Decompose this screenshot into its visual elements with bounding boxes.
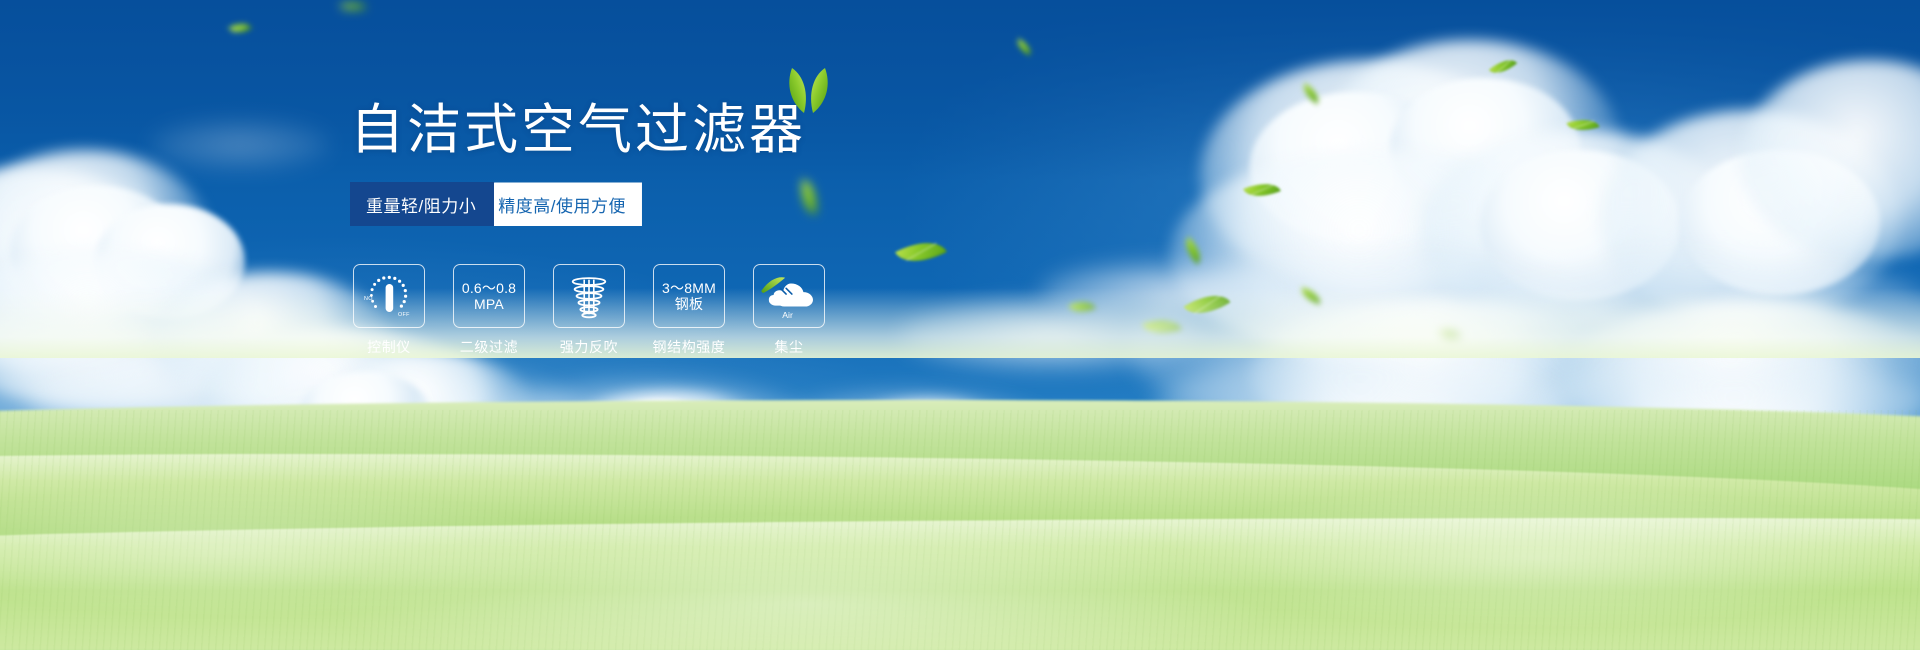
banner-content: 自洁式空气过滤器 [350, 100, 870, 357]
feature-box: NO OFF [353, 264, 425, 328]
feature-item-dust[interactable]: Air 集尘 [750, 264, 828, 357]
feature-item-steel[interactable]: 3～8MM 钢板 钢结构强度 [650, 264, 728, 357]
air-label: Air [782, 311, 793, 321]
tab-light-weight[interactable]: 重量轻/阻力小 [350, 182, 494, 226]
sky-top-gradient [0, 0, 1920, 180]
feature-box: Air [753, 264, 825, 328]
hill-front [0, 518, 1920, 650]
leaf-pair-icon [780, 66, 838, 114]
pressure-text-icon: 0.6～0.8 MPA [462, 280, 516, 313]
feature-box [553, 264, 625, 328]
steel-thickness: 3～8MM [662, 280, 716, 297]
feature-label: 控制仪 [350, 337, 428, 357]
feature-box: 3～8MM 钢板 [653, 264, 725, 328]
grass-field [0, 320, 1920, 650]
hero-banner: 自洁式空气过滤器 [0, 0, 1920, 650]
feature-label: 钢结构强度 [650, 337, 728, 357]
svg-text:NO: NO [364, 296, 373, 302]
control-dial-icon: NO OFF [361, 271, 417, 321]
feature-label: 强力反吹 [550, 337, 628, 357]
feature-tabs: 重量轻/阻力小 精度高/使用方便 [350, 182, 674, 226]
feature-item-pressure[interactable]: 0.6～0.8 MPA 二级过滤 [450, 264, 528, 357]
pressure-value: 0.6～0.8 [462, 280, 516, 297]
air-cloud-icon: Air [759, 272, 819, 320]
svg-text:OFF: OFF [398, 312, 410, 318]
feature-label: 集尘 [750, 337, 828, 357]
feature-item-backblow[interactable]: 强力反吹 [550, 264, 628, 357]
tab-high-precision[interactable]: 精度高/使用方便 [480, 182, 642, 226]
steel-material: 钢板 [662, 296, 716, 313]
pressure-unit: MPA [462, 296, 516, 313]
feature-list: NO OFF 控制仪 0.6～0.8 MPA 二级过滤 [350, 264, 870, 357]
feature-label: 二级过滤 [450, 337, 528, 357]
title-row: 自洁式空气过滤器 [350, 100, 870, 160]
feature-box: 0.6～0.8 MPA [453, 264, 525, 328]
coil-backblow-icon [563, 272, 615, 320]
feature-item-controller[interactable]: NO OFF 控制仪 [350, 264, 428, 357]
steel-plate-text-icon: 3～8MM 钢板 [662, 280, 716, 313]
